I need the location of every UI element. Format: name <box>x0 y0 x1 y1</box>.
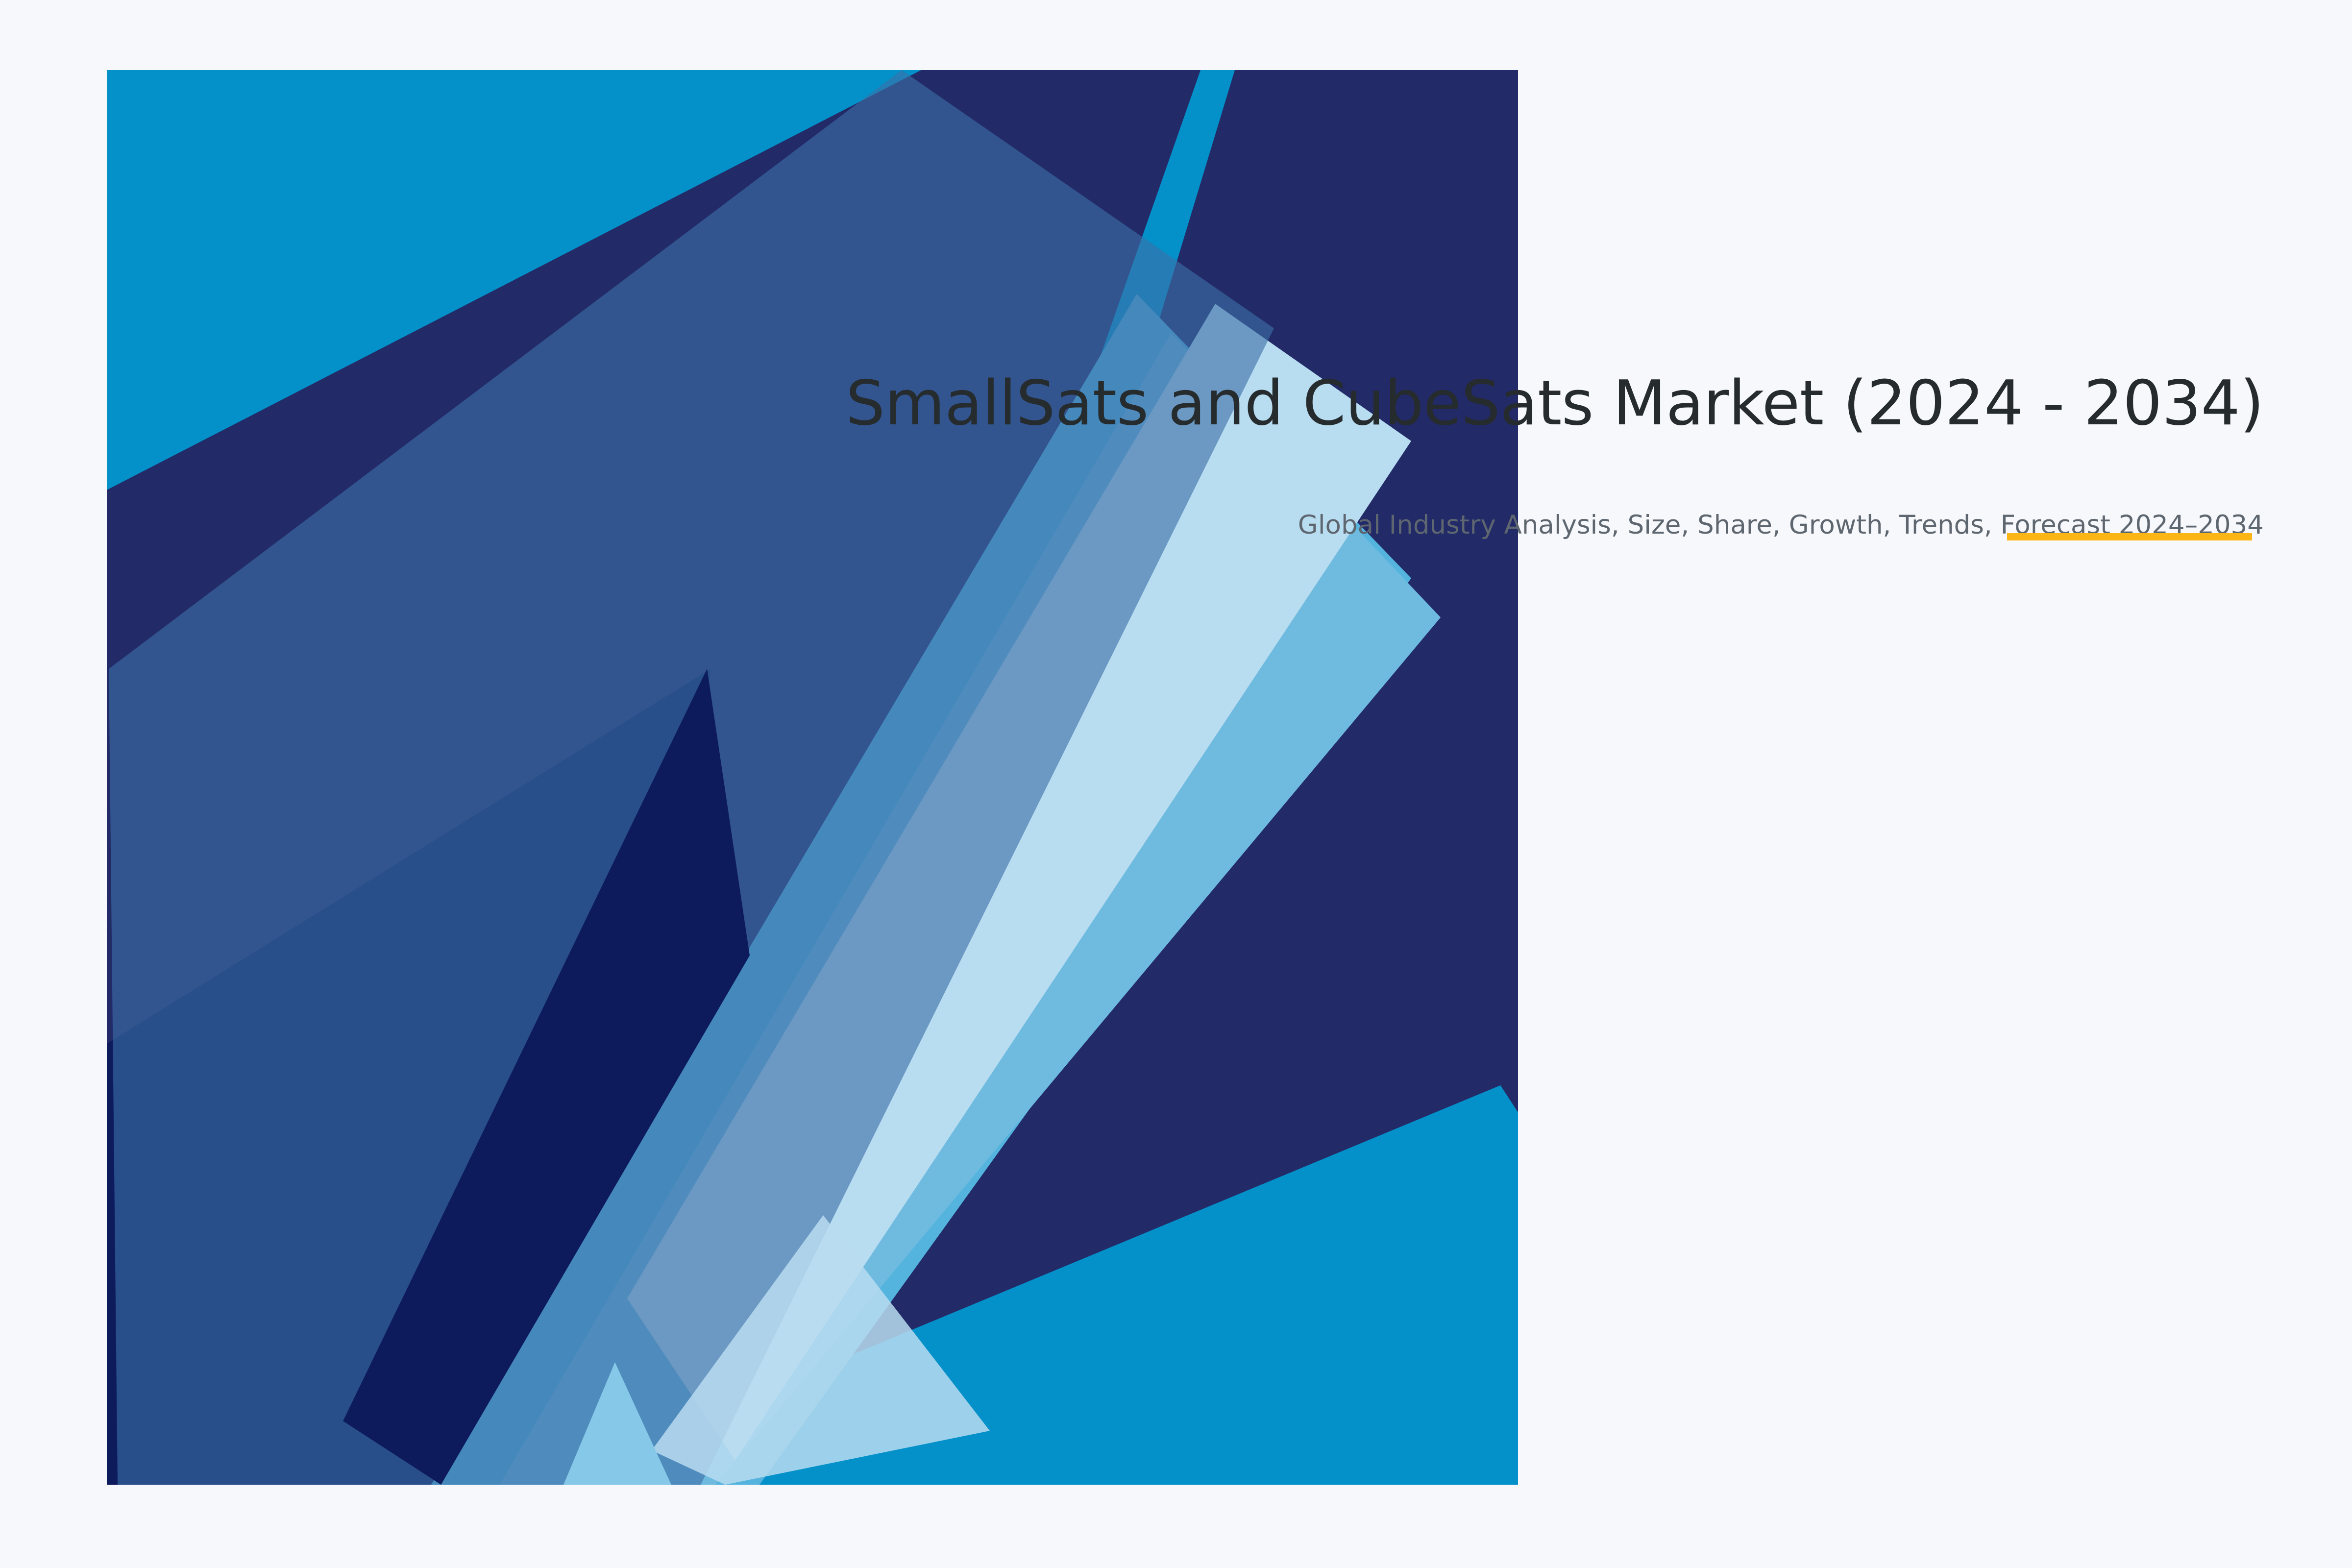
cover-text-block: SmallSats and CubeSats Market (2024 - 20… <box>735 363 2264 544</box>
title-accent-underline <box>2007 533 2252 540</box>
shape-navy-right-triangle <box>1205 70 1518 1112</box>
shape-cyan-base <box>107 70 1518 1485</box>
shape-deep-navy-v <box>107 669 710 1485</box>
cover-artwork <box>0 0 2352 1568</box>
shape-deep-navy-lower <box>343 669 764 1485</box>
shape-pale-corner-wedge <box>652 1215 990 1485</box>
shape-sky-notch <box>563 1362 671 1485</box>
page-title: SmallSats and CubeSats Market (2024 - 20… <box>735 363 2264 444</box>
report-cover-page: SmallSats and CubeSats Market (2024 - 20… <box>0 0 2352 1568</box>
shape-slate-overlay <box>109 70 1274 1485</box>
shape-navy-needle <box>343 669 750 1485</box>
title-wrap: SmallSats and CubeSats Market (2024 - 20… <box>735 363 2264 444</box>
shape-navy-wedge <box>107 70 1518 1485</box>
page-subtitle: Global Industry Analysis, Size, Share, G… <box>735 444 2264 543</box>
